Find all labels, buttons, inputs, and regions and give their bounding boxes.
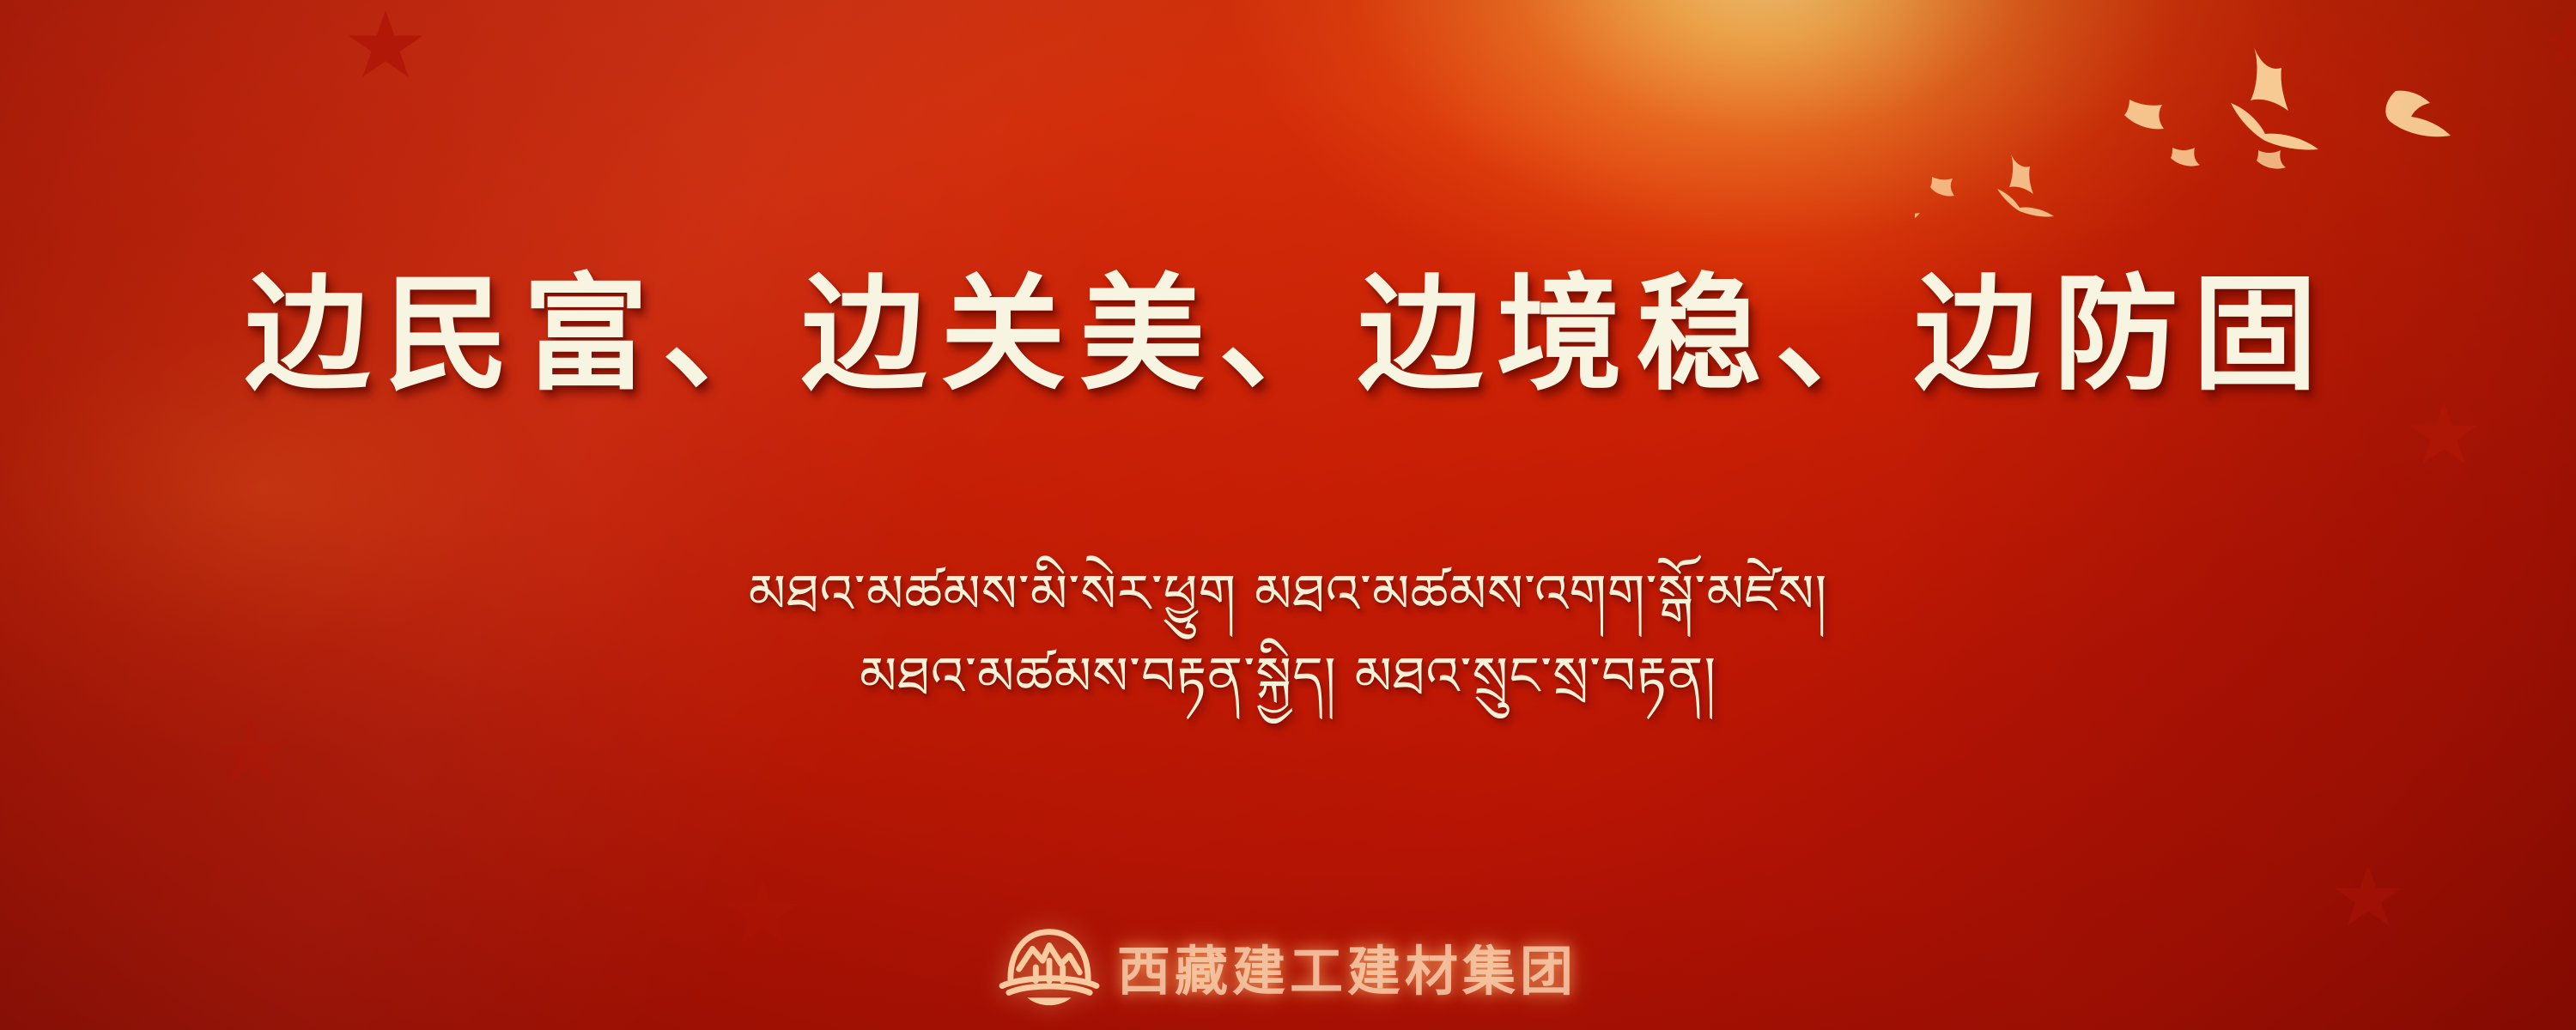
background-gradient — [0, 0, 2576, 1030]
poster-banner: 边民富、边关美、边境稳、边防固 མཐའ་མཚམས་མི་སེར་ཕྱུག མཐའ… — [0, 0, 2576, 1030]
headline-text: 边民富、边关美、边境稳、边防固 — [245, 273, 2331, 398]
headline-container: 边民富、边关美、边境稳、边防固 — [0, 273, 2576, 398]
tibetan-line-1: མཐའ་མཚམས་མི་སེར་ཕྱུག མཐའ་མཚམས་འགག་སྒོ་མཛ… — [0, 556, 2576, 632]
tibetan-line-2: མཐའ་མཚམས་བརྟན་སྐྱིད། མཐའ་སྲུང་སྲ་བརྟན། — [0, 639, 2576, 714]
tibetan-container: མཐའ་མཚམས་མི་སེར་ཕྱུག མཐའ་མཚམས་འགག་སྒོ་མཛ… — [0, 556, 2576, 714]
